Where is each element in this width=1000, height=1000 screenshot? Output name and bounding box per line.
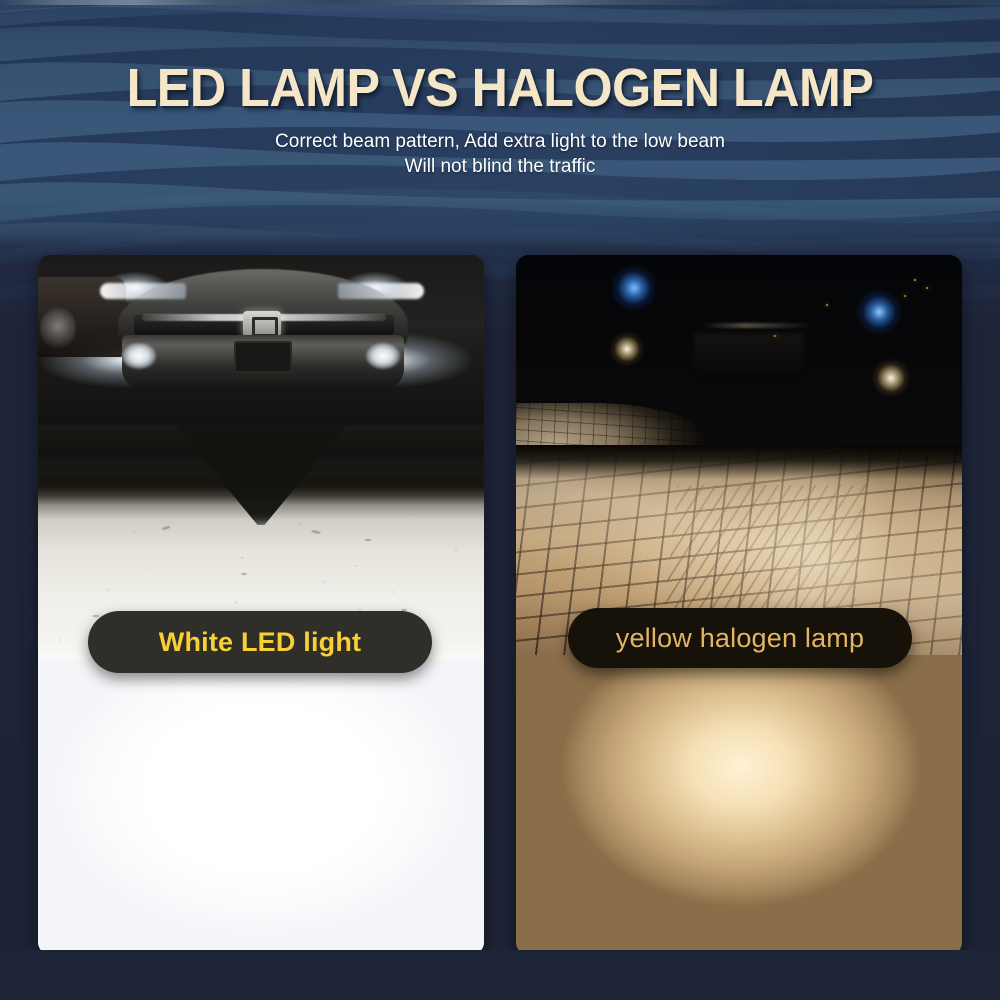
badge-yellow-halogen-lamp: yellow halogen lamp [568, 608, 912, 668]
comparison-infographic: LED LAMP VS HALOGEN LAMP Correct beam pa… [0, 0, 1000, 1000]
badge-led-label: White LED light [159, 627, 361, 658]
badge-white-led-light: White LED light [88, 611, 432, 673]
background-car-wheel [40, 307, 76, 349]
bottom-background-fill [0, 950, 1000, 1000]
distant-light-1 [914, 279, 916, 281]
led-headlight-left [100, 283, 186, 299]
panel-led [38, 255, 484, 955]
halogen-bulb-photo [516, 655, 962, 955]
distant-light-5 [774, 335, 776, 337]
page-subtitle: Correct beam pattern, Add extra light to… [0, 129, 1000, 180]
distant-light-2 [926, 287, 928, 289]
distant-light-4 [826, 304, 828, 306]
header: LED LAMP VS HALOGEN LAMP Correct beam pa… [0, 0, 1000, 180]
led-headlight-right [338, 283, 424, 299]
halogen-night-photo [516, 255, 962, 451]
honda-logo-icon [243, 311, 281, 337]
subtitle-line-2: Will not blind the traffic [0, 154, 1000, 180]
led-night-car-photo [38, 255, 484, 433]
page-title: LED LAMP VS HALOGEN LAMP [35, 60, 965, 117]
distant-light-3 [904, 295, 906, 297]
fog-light-left [122, 343, 156, 369]
dim-car-edge [702, 323, 812, 328]
badge-halogen-label: yellow halogen lamp [616, 623, 864, 654]
dim-license-plate [694, 333, 804, 373]
license-plate-holder [234, 341, 292, 373]
panel-halogen [516, 255, 962, 955]
led-bulb-photo [38, 659, 484, 955]
pavement-top-shadow [516, 445, 962, 479]
subtitle-line-1: Correct beam pattern, Add extra light to… [275, 131, 725, 152]
comparison-panels [0, 255, 1000, 955]
fog-light-right [366, 343, 400, 369]
